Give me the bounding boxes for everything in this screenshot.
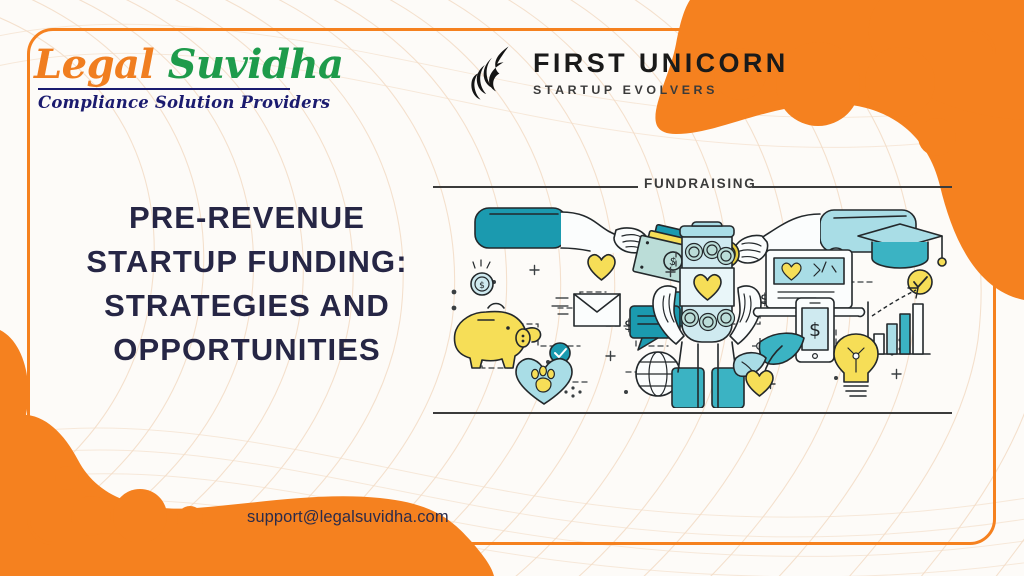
fundraising-illustration: FUNDRAISING .st{fill:none;stroke:#23282b… [430,172,955,420]
lightbulb-icon [834,334,878,396]
illustration-label: FUNDRAISING [644,176,748,191]
heart-paw-icon [516,359,572,404]
bar-chart-icon [868,288,930,354]
smartphone-dollar-icon: $ [796,298,834,362]
fundraising-scene: .st{fill:none;stroke:#23282b;stroke-widt… [430,196,955,408]
unicorn-head-icon [468,44,520,102]
first-unicorn-title: FIRST UNICORN [533,49,789,77]
rule-left [433,186,638,188]
first-unicorn-tagline: STARTUP EVOLVERS [533,83,789,97]
legal-suvidha-logo: Legal Suvidha Compliance Solution Provid… [34,44,304,112]
banner-canvas: Legal Suvidha Compliance Solution Provid… [0,0,1024,576]
svg-text:$: $ [809,319,821,341]
headline-line-3: STRATEGIES AND [62,284,432,328]
first-unicorn-logo: FIRST UNICORN STARTUP EVOLVERS [468,44,789,102]
legal-suvidha-wordmark: Legal Suvidha [34,44,304,86]
logo-word-legal: Legal [34,41,154,88]
page-title: PRE-REVENUE STARTUP FUNDING: STRATEGIES … [62,196,432,372]
svg-text:$: $ [479,281,485,291]
first-unicorn-text: FIRST UNICORN STARTUP EVOLVERS [533,49,789,96]
rule-bottom [433,412,952,414]
logo-divider [38,88,290,90]
envelope-icon [552,294,620,326]
contact-email[interactable]: support@legalsuvidha.com [247,508,449,527]
logo-tagline: Compliance Solution Providers [38,93,304,112]
check-circle-icon [908,270,932,294]
rule-right [752,186,952,188]
heart-icon [746,371,773,396]
headline-line-2: STARTUP FUNDING: [62,240,432,284]
logo-word-suvidha: Suvidha [168,41,344,88]
headline-line-4: OPPORTUNITIES [62,328,432,372]
coin-icon: $ [471,260,493,295]
heart-icon [588,255,615,280]
headline-line-1: PRE-REVENUE [62,196,432,240]
